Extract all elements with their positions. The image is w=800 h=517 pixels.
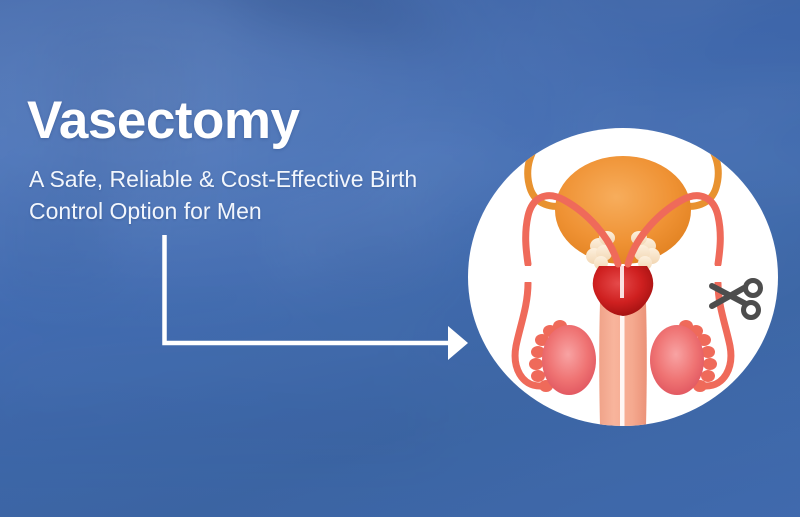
male-reproductive-system-diagram <box>468 128 778 426</box>
elbow-arrow-icon <box>150 222 480 362</box>
testicle-left <box>542 325 596 395</box>
page-title: Vasectomy <box>27 92 299 150</box>
arrow-head <box>448 326 468 360</box>
prostate-urethra <box>620 264 624 298</box>
testicle-right <box>650 325 704 395</box>
vas-deferens-cut-gap-left <box>520 266 538 282</box>
vasectomy-banner: Vasectomy A Safe, Reliable & Cost-Effect… <box>0 0 800 517</box>
page-subtitle: A Safe, Reliable & Cost-Effective Birth … <box>29 163 479 227</box>
illustration-circle <box>468 128 778 426</box>
vas-deferens-cut-gap-right <box>708 266 726 282</box>
arrow-line <box>165 235 454 343</box>
